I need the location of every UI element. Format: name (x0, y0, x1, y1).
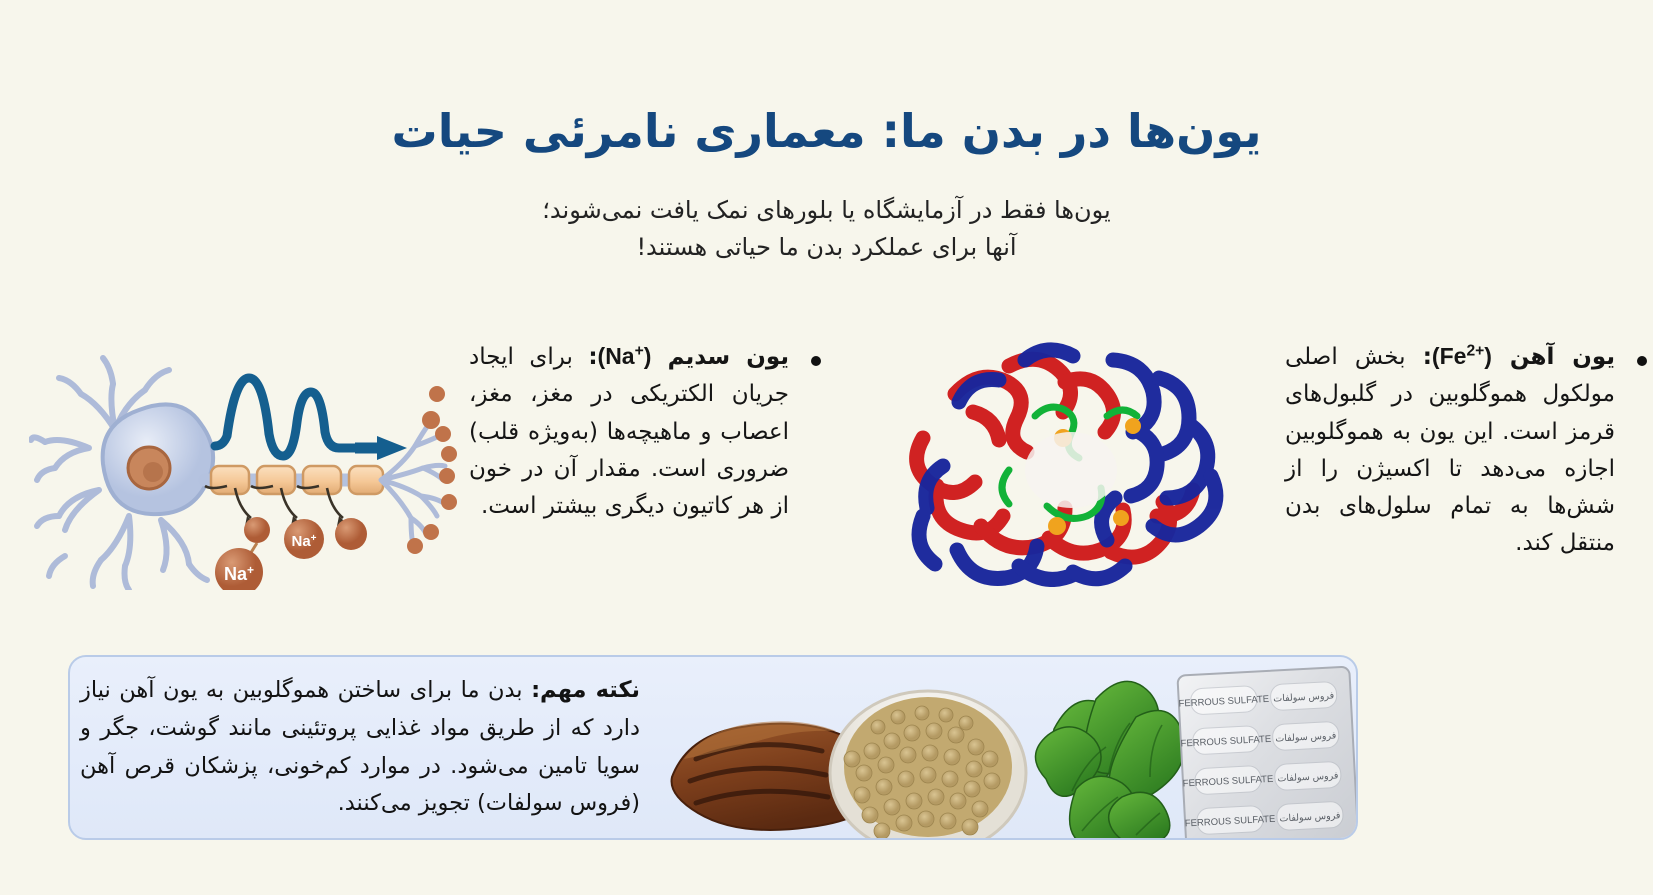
blister-label-en-3: FERROUS SULFATE (1182, 774, 1273, 790)
page-title: یون‌ها در بدن ما: معماری نامرئی حیات (0, 103, 1653, 161)
ion-body-iron: بخش اصلی مولکول هموگلوبین در گلبول‌های ق… (1285, 344, 1615, 556)
blister-label-fa-2: فروس سولفات (1275, 730, 1337, 744)
ion-term-sodium: یون سدیم (668, 344, 789, 370)
ion-columns: یون آهن (Fe2+): بخش اصلی مولکول هموگلوبی… (0, 320, 1653, 620)
ion-term-iron: یون آهن (1510, 344, 1615, 370)
blister-label-fa-4: فروس سولفات (1279, 810, 1341, 824)
callout-lead-label: نکته مهم: (531, 677, 640, 703)
ion-formula-sodium: (Na+) (598, 344, 668, 370)
ion-separator-iron: : (1423, 344, 1432, 370)
sodium-ion-labeled-lower (215, 548, 263, 590)
spinach-leaves-image (1035, 681, 1184, 840)
axon-terminal-boutons (407, 386, 457, 554)
ion-text-sodium: یون سدیم (Na+): برای ایجاد جریان الکتریک… (469, 320, 789, 525)
sodium-ion-labeled-upper (284, 519, 324, 559)
soybean-bowl-image (830, 691, 1026, 840)
bullet-icon-sodium (811, 356, 821, 366)
callout-text: نکته مهم: بدن ما برای ساختن هموگلوبین به… (70, 672, 666, 823)
ion-card-iron: یون آهن (Fe2+): بخش اصلی مولکول هموگلوبی… (827, 320, 1653, 620)
important-note-callout: نکته مهم: بدن ما برای ساختن هموگلوبین به… (68, 655, 1358, 840)
neuron-soma (103, 404, 213, 514)
blister-label-en-2: FERROUS SULFATE (1180, 734, 1271, 750)
ion-text-iron: یون آهن (Fe2+): بخش اصلی مولکول هموگلوبی… (1285, 320, 1615, 563)
ion-card-sodium: یون سدیم (Na+): برای ایجاد جریان الکتریک… (1, 320, 827, 620)
ferrous-sulfate-blister-pack: FERROUS SULFATE فروس سولفات FERROUS SULF… (1177, 667, 1356, 840)
sodium-ion-particles: Na+ Na+ (215, 517, 367, 590)
neuron-sodium-illustration: Na+ Na+ (29, 340, 459, 590)
page-subtitle: یون‌ها فقط در آزمایشگاه یا بلورهای نمک ی… (0, 192, 1653, 266)
ion-influx-arrows (205, 486, 347, 526)
blister-label-en-1: FERROUS SULFATE (1178, 694, 1269, 710)
subtitle-line-2: آنها برای عملکرد بدن ما حیاتی هستند! (0, 229, 1653, 266)
subtitle-line-1: یون‌ها فقط در آزمایشگاه یا بلورهای نمک ی… (0, 192, 1653, 229)
blister-label-en-4: FERROUS SULFATE (1185, 814, 1276, 830)
blister-label-fa-1: فروس سولفات (1273, 690, 1335, 704)
iron-food-sources-illustration: FERROUS SULFATE فروس سولفات FERROUS SULF… (666, 655, 1356, 840)
sodium-ion-label-upper: Na+ (291, 533, 316, 550)
sodium-ion-label-lower: Na+ (224, 563, 254, 584)
hemoglobin-molecule-illustration (859, 320, 1279, 620)
neuron-nucleus (128, 447, 170, 489)
bullet-icon-iron (1637, 356, 1647, 366)
ion-formula-iron: (Fe2+) (1432, 344, 1510, 370)
ion-separator-sodium: : (588, 344, 597, 370)
myelin-sheath (211, 466, 383, 494)
blister-label-fa-3: فروس سولفات (1277, 770, 1339, 784)
action-potential-waveform (179, 378, 407, 460)
grilled-steak-image (672, 721, 884, 830)
